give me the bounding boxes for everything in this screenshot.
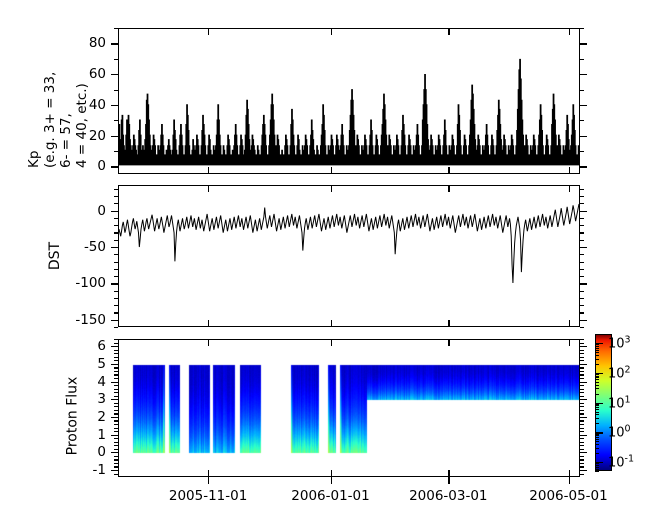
kp-ytick-label: 60 bbox=[48, 66, 106, 82]
flux-ytick-label: 6 bbox=[48, 338, 106, 354]
flux-ytick-minor bbox=[114, 371, 118, 372]
flux-ytick-major bbox=[111, 417, 118, 418]
dst-xtick-top bbox=[331, 185, 332, 192]
flux-ytick-minor bbox=[114, 353, 118, 354]
dst-ytick-minor-right bbox=[580, 218, 584, 219]
dst-ytick-major-right bbox=[580, 283, 587, 284]
flux-ytick-label: 0 bbox=[48, 444, 106, 460]
dst-ytick-minor-right bbox=[580, 327, 584, 328]
flux-ytick-minor-right bbox=[580, 449, 584, 450]
flux-ytick-minor-right bbox=[580, 371, 584, 372]
flux-ytick-minor-right bbox=[580, 424, 584, 425]
dst-ytick-label: 0 bbox=[48, 203, 106, 219]
kp-ytick-major-right bbox=[580, 43, 587, 44]
flux-ytick-major bbox=[111, 470, 118, 471]
kp-xtick-top bbox=[448, 28, 449, 35]
dst-ytick-minor-right bbox=[580, 240, 584, 241]
flux-ytick-minor-right bbox=[580, 350, 584, 351]
flux-xtick-top bbox=[448, 339, 449, 346]
flux-ytick-minor bbox=[114, 350, 118, 351]
flux-ytick-minor bbox=[114, 392, 118, 393]
flux-ytick-minor-right bbox=[580, 459, 584, 460]
kp-ytick-minor-right bbox=[580, 120, 584, 121]
dst-ytick-minor-right bbox=[580, 203, 584, 204]
flux-ytick-minor bbox=[114, 413, 118, 414]
dst-ytick-minor bbox=[114, 189, 118, 190]
kp-xtick-top bbox=[208, 28, 209, 35]
flux-ytick-minor bbox=[114, 410, 118, 411]
dst-ytick-minor bbox=[114, 276, 118, 277]
flux-ytick-minor-right bbox=[580, 392, 584, 393]
flux-ytick-minor-right bbox=[580, 438, 584, 439]
dst-ytick-minor bbox=[114, 327, 118, 328]
flux-ytick-minor-right bbox=[580, 456, 584, 457]
flux-ytick-major bbox=[111, 382, 118, 383]
xtick-major bbox=[448, 477, 449, 484]
xtick-label: 2006-03-01 bbox=[409, 488, 487, 504]
dst-xtick-bottom bbox=[569, 320, 570, 327]
flux-ytick-minor bbox=[114, 463, 118, 464]
flux-ytick-minor-right bbox=[580, 378, 584, 379]
flux-xtick-bottom bbox=[448, 470, 449, 477]
kp-ytick-label: 0 bbox=[48, 158, 106, 174]
flux-ytick-minor bbox=[114, 396, 118, 397]
flux-ytick-minor bbox=[114, 428, 118, 429]
flux-ytick-minor-right bbox=[580, 442, 584, 443]
kp-ytick-major bbox=[111, 166, 118, 167]
flux-ytick-major-right bbox=[580, 470, 587, 471]
dst-ytick-label: -100 bbox=[48, 275, 106, 291]
dst-xtick-bottom bbox=[448, 320, 449, 327]
kp-xtick-bottom bbox=[208, 167, 209, 174]
axis-tick-layer: 0204060800-50-100-150-101234562005-11-01… bbox=[0, 0, 665, 523]
kp-ytick-minor bbox=[114, 151, 118, 152]
dst-ytick-label: -150 bbox=[48, 312, 106, 328]
flux-ytick-minor-right bbox=[580, 445, 584, 446]
kp-ytick-minor bbox=[114, 28, 118, 29]
flux-ytick-minor bbox=[114, 466, 118, 467]
kp-ytick-major-right bbox=[580, 105, 587, 106]
dst-ytick-major bbox=[111, 211, 118, 212]
dst-xtick-bottom bbox=[208, 320, 209, 327]
flux-xtick-top bbox=[208, 339, 209, 346]
flux-xtick-bottom bbox=[569, 470, 570, 477]
xtick-label: 2006-05-01 bbox=[529, 488, 607, 504]
kp-ytick-minor-right bbox=[580, 151, 584, 152]
flux-ytick-minor-right bbox=[580, 428, 584, 429]
kp-ytick-label: 40 bbox=[48, 97, 106, 113]
flux-ytick-minor bbox=[114, 389, 118, 390]
flux-ytick-label: -1 bbox=[48, 462, 106, 478]
flux-ytick-minor bbox=[114, 449, 118, 450]
kp-xtick-top bbox=[331, 28, 332, 35]
flux-ytick-minor-right bbox=[580, 339, 584, 340]
flux-ytick-minor bbox=[114, 420, 118, 421]
dst-ytick-major bbox=[111, 247, 118, 248]
flux-ytick-minor-right bbox=[580, 403, 584, 404]
flux-ytick-minor bbox=[114, 378, 118, 379]
dst-ytick-minor bbox=[114, 225, 118, 226]
flux-xtick-bottom bbox=[331, 470, 332, 477]
flux-ytick-minor-right bbox=[580, 360, 584, 361]
flux-ytick-label: 1 bbox=[48, 427, 106, 443]
dst-ytick-major-right bbox=[580, 211, 587, 212]
kp-ytick-minor bbox=[114, 59, 118, 60]
kp-ytick-major bbox=[111, 74, 118, 75]
kp-ytick-major bbox=[111, 105, 118, 106]
dst-ytick-minor-right bbox=[580, 276, 584, 277]
dst-ytick-minor bbox=[114, 232, 118, 233]
dst-ytick-minor bbox=[114, 269, 118, 270]
flux-xtick-bottom bbox=[208, 470, 209, 477]
dst-xtick-top bbox=[569, 185, 570, 192]
dst-ytick-minor-right bbox=[580, 189, 584, 190]
flux-ytick-label: 2 bbox=[48, 409, 106, 425]
flux-ytick-major-right bbox=[580, 399, 587, 400]
kp-ytick-minor bbox=[114, 120, 118, 121]
flux-ytick-major-right bbox=[580, 382, 587, 383]
flux-ytick-minor bbox=[114, 445, 118, 446]
flux-ytick-major bbox=[111, 364, 118, 365]
kp-xtick-bottom bbox=[569, 167, 570, 174]
flux-ytick-minor bbox=[114, 438, 118, 439]
flux-ytick-minor-right bbox=[580, 343, 584, 344]
dst-ytick-minor-right bbox=[580, 225, 584, 226]
kp-ytick-label: 80 bbox=[48, 35, 106, 51]
flux-ytick-label: 5 bbox=[48, 356, 106, 372]
flux-ytick-minor bbox=[114, 343, 118, 344]
flux-ytick-minor bbox=[114, 385, 118, 386]
kp-ytick-major bbox=[111, 136, 118, 137]
kp-ytick-minor-right bbox=[580, 28, 584, 29]
flux-ytick-minor-right bbox=[580, 413, 584, 414]
xtick-major bbox=[208, 477, 209, 484]
dst-ytick-minor bbox=[114, 196, 118, 197]
flux-ytick-minor-right bbox=[580, 357, 584, 358]
flux-ytick-minor bbox=[114, 357, 118, 358]
flux-ytick-minor bbox=[114, 367, 118, 368]
flux-ytick-major-right bbox=[580, 364, 587, 365]
flux-ytick-minor bbox=[114, 442, 118, 443]
kp-ytick-major-right bbox=[580, 74, 587, 75]
flux-ytick-minor-right bbox=[580, 466, 584, 467]
flux-ytick-minor bbox=[114, 406, 118, 407]
flux-ytick-minor bbox=[114, 474, 118, 475]
dst-ytick-minor bbox=[114, 262, 118, 263]
flux-ytick-minor-right bbox=[580, 406, 584, 407]
kp-ytick-minor-right bbox=[580, 59, 584, 60]
flux-ytick-major bbox=[111, 452, 118, 453]
dst-ytick-minor bbox=[114, 203, 118, 204]
flux-ytick-minor bbox=[114, 431, 118, 432]
flux-ytick-label: 3 bbox=[48, 391, 106, 407]
dst-xtick-top bbox=[208, 185, 209, 192]
dst-ytick-minor-right bbox=[580, 196, 584, 197]
flux-ytick-major bbox=[111, 346, 118, 347]
flux-ytick-major-right bbox=[580, 452, 587, 453]
dst-ytick-major-right bbox=[580, 247, 587, 248]
flux-ytick-major bbox=[111, 399, 118, 400]
flux-ytick-minor-right bbox=[580, 374, 584, 375]
kp-ytick-major-right bbox=[580, 136, 587, 137]
flux-ytick-minor bbox=[114, 403, 118, 404]
dst-ytick-minor bbox=[114, 254, 118, 255]
xtick-label: 2006-01-01 bbox=[291, 488, 369, 504]
xtick-label: 2005-11-01 bbox=[169, 488, 247, 504]
flux-ytick-minor-right bbox=[580, 463, 584, 464]
kp-ytick-label: 20 bbox=[48, 128, 106, 144]
flux-ytick-minor bbox=[114, 456, 118, 457]
kp-ytick-minor bbox=[114, 90, 118, 91]
kp-xtick-top bbox=[569, 28, 570, 35]
kp-ytick-major-right bbox=[580, 166, 587, 167]
kp-xtick-bottom bbox=[448, 167, 449, 174]
flux-ytick-minor bbox=[114, 424, 118, 425]
dst-ytick-minor bbox=[114, 298, 118, 299]
dst-ytick-label: -50 bbox=[48, 239, 106, 255]
dst-ytick-minor-right bbox=[580, 254, 584, 255]
dst-ytick-minor bbox=[114, 218, 118, 219]
flux-ytick-minor-right bbox=[580, 385, 584, 386]
dst-ytick-major-right bbox=[580, 320, 587, 321]
dst-ytick-minor-right bbox=[580, 298, 584, 299]
flux-ytick-major-right bbox=[580, 435, 587, 436]
flux-ytick-label: 4 bbox=[48, 374, 106, 390]
dst-ytick-minor-right bbox=[580, 262, 584, 263]
flux-ytick-minor bbox=[114, 374, 118, 375]
flux-ytick-minor-right bbox=[580, 353, 584, 354]
flux-ytick-minor-right bbox=[580, 420, 584, 421]
dst-xtick-bottom bbox=[331, 320, 332, 327]
dst-ytick-minor-right bbox=[580, 269, 584, 270]
flux-ytick-minor bbox=[114, 339, 118, 340]
dst-ytick-minor-right bbox=[580, 312, 584, 313]
xtick-major bbox=[331, 477, 332, 484]
xtick-major bbox=[569, 477, 570, 484]
dst-ytick-minor bbox=[114, 305, 118, 306]
flux-ytick-minor-right bbox=[580, 367, 584, 368]
flux-ytick-major-right bbox=[580, 346, 587, 347]
dst-ytick-minor-right bbox=[580, 291, 584, 292]
dst-ytick-minor-right bbox=[580, 305, 584, 306]
flux-xtick-top bbox=[569, 339, 570, 346]
flux-ytick-minor-right bbox=[580, 474, 584, 475]
kp-ytick-major bbox=[111, 43, 118, 44]
dst-xtick-top bbox=[448, 185, 449, 192]
flux-ytick-minor bbox=[114, 360, 118, 361]
dst-ytick-minor bbox=[114, 291, 118, 292]
flux-ytick-minor bbox=[114, 459, 118, 460]
flux-xtick-top bbox=[331, 339, 332, 346]
dst-ytick-major bbox=[111, 320, 118, 321]
dst-ytick-minor bbox=[114, 240, 118, 241]
flux-ytick-major bbox=[111, 435, 118, 436]
figure-canvas: Kp (e.g. 3+ = 33, 6- = 57, 4 = 40, etc.)… bbox=[0, 0, 665, 523]
flux-ytick-major-right bbox=[580, 417, 587, 418]
dst-ytick-minor-right bbox=[580, 232, 584, 233]
dst-ytick-major bbox=[111, 283, 118, 284]
dst-ytick-minor bbox=[114, 312, 118, 313]
flux-ytick-minor-right bbox=[580, 431, 584, 432]
flux-ytick-minor-right bbox=[580, 396, 584, 397]
kp-xtick-bottom bbox=[331, 167, 332, 174]
flux-ytick-minor-right bbox=[580, 410, 584, 411]
kp-ytick-minor-right bbox=[580, 90, 584, 91]
flux-ytick-minor-right bbox=[580, 389, 584, 390]
